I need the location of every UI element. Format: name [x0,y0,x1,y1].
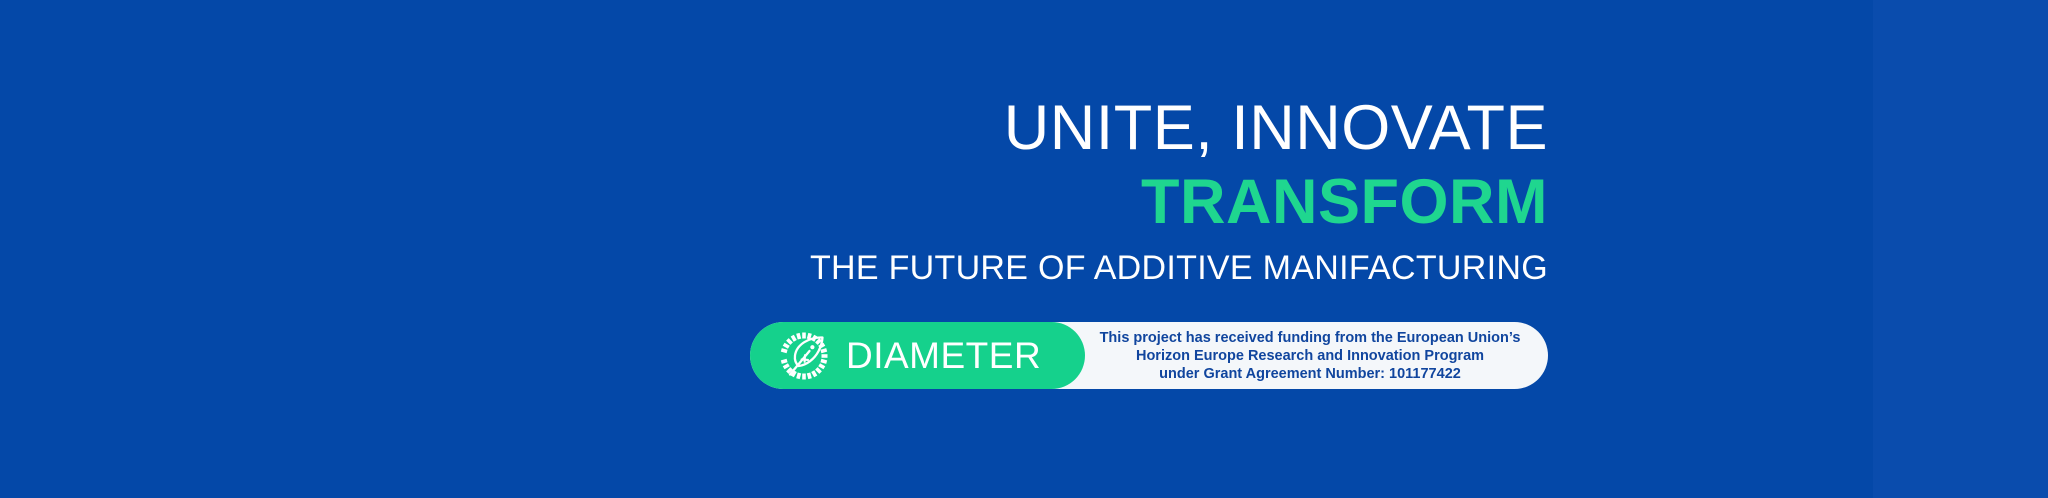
diameter-project-banner: UNITE, INNOVATE TRANSFORM THE FUTURE OF … [0,0,2048,498]
headline-subtitle: THE FUTURE OF ADDITIVE MANIFACTURING [0,245,1548,291]
banner-content-area: UNITE, INNOVATE TRANSFORM THE FUTURE OF … [0,0,1548,498]
headline-line-unite-innovate: UNITE, INNOVATE [0,92,1548,164]
diameter-wordmark: DIAMETER [846,336,1041,376]
funding-line-2: Horizon Europe Research and Innovation P… [1136,347,1484,365]
funding-line-3: under Grant Agreement Number: 101177422 [1159,365,1461,383]
headline-block: UNITE, INNOVATE TRANSFORM THE FUTURE OF … [0,92,1548,291]
funding-line-1: This project has received funding from t… [1100,329,1521,347]
headline-line-transform: TRANSFORM [0,164,1548,240]
badge-strip: This project has received funding from t… [750,322,1548,389]
leaf-in-dashed-circle-icon [778,330,830,382]
background-right-band [1873,0,2048,498]
funding-statement: This project has received funding from t… [1095,322,1525,389]
diameter-logo-pill[interactable]: DIAMETER [750,322,1085,389]
